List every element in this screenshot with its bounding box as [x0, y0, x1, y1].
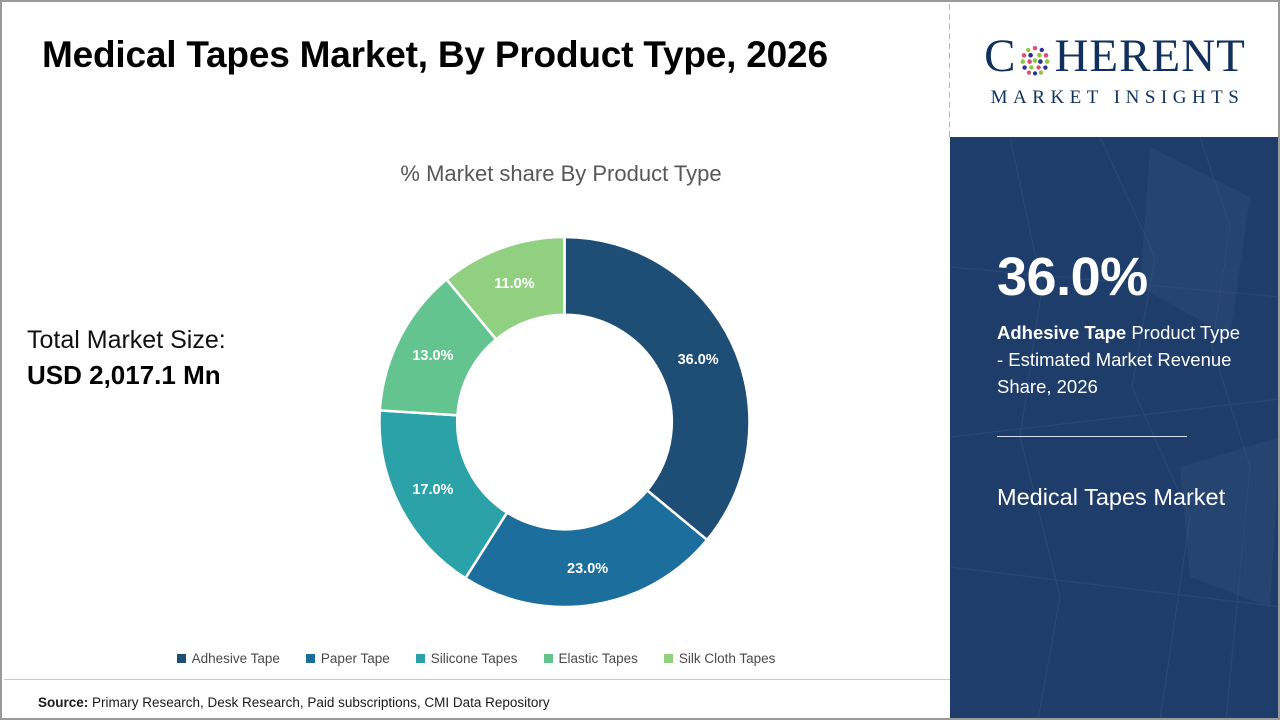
panel-divider: [997, 436, 1187, 437]
legend-swatch-icon: [177, 654, 186, 663]
panel-market-name: Medical Tapes Market: [997, 475, 1227, 520]
highlight-percentage: 36.0%: [997, 250, 1260, 304]
donut-slice-label: 23.0%: [567, 561, 608, 577]
donut-chart: 36.0%23.0%17.0%13.0%11.0%: [377, 232, 752, 612]
legend-swatch-icon: [306, 654, 315, 663]
highlight-panel: 36.0% Adhesive Tape Product Type - Estim…: [950, 137, 1280, 720]
legend-item[interactable]: Adhesive Tape: [177, 651, 280, 666]
donut-slice-label: 36.0%: [678, 352, 719, 368]
legend-item[interactable]: Paper Tape: [306, 651, 390, 666]
infographic-root: Medical Tapes Market, By Product Type, 2…: [0, 0, 1280, 720]
chart-legend: Adhesive TapePaper TapeSilicone TapesEla…: [2, 651, 950, 666]
legend-label: Silicone Tapes: [431, 651, 518, 666]
logo-letter-c: C: [984, 33, 1016, 80]
highlight-description-bold: Adhesive Tape: [997, 322, 1126, 343]
legend-item[interactable]: Silicone Tapes: [416, 651, 518, 666]
page-title: Medical Tapes Market, By Product Type, 2…: [42, 34, 828, 76]
legend-swatch-icon: [544, 654, 553, 663]
source-divider: [4, 679, 950, 680]
chart-subtitle: % Market share By Product Type: [2, 161, 950, 187]
logo-wordmark: C: [984, 33, 1246, 80]
donut-slice-label: 13.0%: [412, 348, 453, 364]
donut-slice-label: 17.0%: [412, 482, 453, 498]
globe-dots-icon: [1017, 40, 1053, 76]
main-content-area: Medical Tapes Market, By Product Type, 2…: [2, 2, 950, 720]
source-line: Source: Primary Research, Desk Research,…: [38, 695, 550, 710]
source-text: Primary Research, Desk Research, Paid su…: [88, 695, 549, 710]
legend-label: Paper Tape: [321, 651, 390, 666]
donut-chart-svg: 36.0%23.0%17.0%13.0%11.0%: [377, 232, 752, 612]
legend-label: Elastic Tapes: [559, 651, 638, 666]
highlight-description: Adhesive Tape Product Type - Estimated M…: [997, 320, 1245, 400]
source-label: Source:: [38, 695, 88, 710]
logo-letters-herent: HERENT: [1054, 33, 1245, 80]
donut-slice-label: 11.0%: [494, 276, 534, 292]
logo-subtitle: MARKET INSIGHTS: [986, 87, 1245, 109]
legend-item[interactable]: Silk Cloth Tapes: [664, 651, 776, 666]
panel-content: 36.0% Adhesive Tape Product Type - Estim…: [997, 137, 1260, 520]
total-market-size: Total Market Size: USD 2,017.1 Mn: [27, 324, 226, 393]
brand-logo: C: [950, 4, 1280, 137]
total-market-size-value: USD 2,017.1 Mn: [27, 358, 226, 393]
legend-swatch-icon: [416, 654, 425, 663]
total-market-size-label: Total Market Size:: [27, 324, 226, 358]
donut-slice-group: [380, 237, 750, 607]
legend-label: Adhesive Tape: [192, 651, 280, 666]
donut-slice[interactable]: [565, 237, 750, 540]
legend-label: Silk Cloth Tapes: [679, 651, 776, 666]
legend-swatch-icon: [664, 654, 673, 663]
legend-item[interactable]: Elastic Tapes: [544, 651, 638, 666]
